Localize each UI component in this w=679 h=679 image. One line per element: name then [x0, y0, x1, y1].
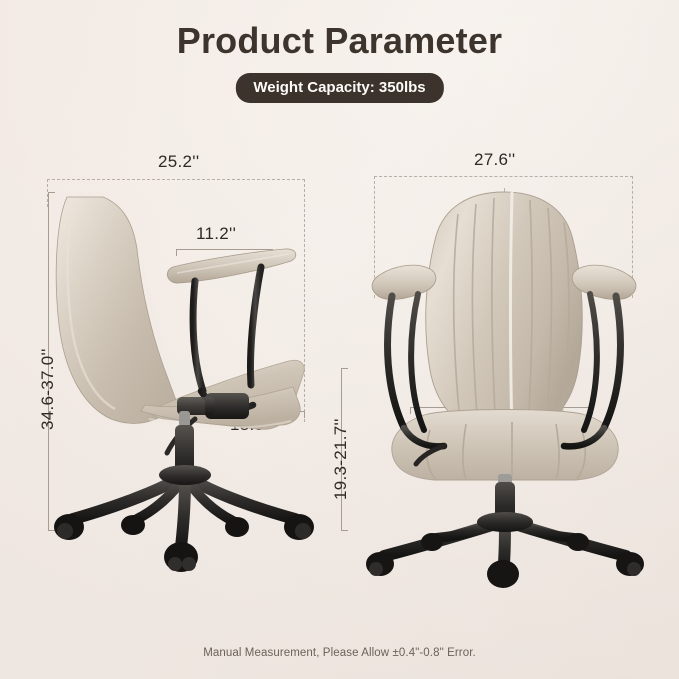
dimension-tick-seatheight-top: [341, 368, 348, 369]
measurement-note: Manual Measurement, Please Allow ±0.4"-0…: [0, 647, 679, 659]
product-parameter-diagram: Product Parameter Weight Capacity: 350lb…: [0, 0, 679, 679]
weight-capacity-badge: Weight Capacity: 350lbs: [235, 73, 443, 103]
dimension-line-overall-width: [374, 176, 633, 177]
dimension-label-overall-depth: 25.2'': [158, 152, 199, 172]
dimension-label-seat-height: 19.3-21.7'': [331, 418, 351, 500]
page-title: Product Parameter: [0, 20, 679, 62]
chair-front-view: [370, 178, 638, 578]
dimension-label-overall-width: 27.6'': [474, 150, 515, 170]
dimension-tick-seatheight-bottom: [341, 530, 348, 531]
chair-side-view: [45, 175, 320, 575]
